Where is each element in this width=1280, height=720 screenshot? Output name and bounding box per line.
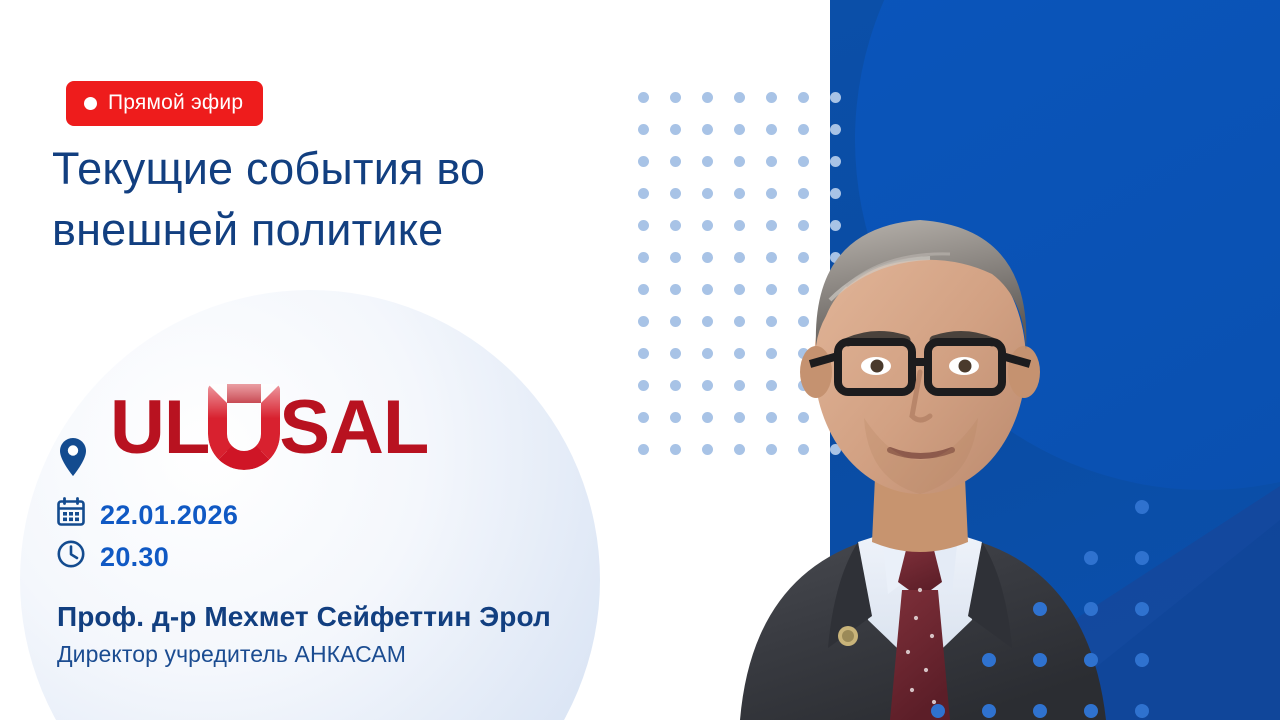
pattern-dot [766,92,777,103]
pattern-dot [830,124,841,135]
logo-text-part1: UL [110,390,209,466]
pattern-dot [798,92,809,103]
pattern-dot [1084,704,1098,718]
speaker-name: Проф. д-р Мехмет Сейфеттин Эрол [57,601,551,633]
logo-u-mark [205,390,283,470]
pattern-dot [766,124,777,135]
content-column: Прямой эфир Текущие события во внешней п… [0,0,620,720]
pattern-dot [1084,551,1098,565]
pattern-dot [982,653,996,667]
live-badge-label: Прямой эфир [108,91,243,115]
location-pin-icon [58,437,88,482]
pattern-dot [638,124,649,135]
pattern-dot [931,704,945,718]
event-time-row: 20.30 [56,539,169,576]
event-time: 20.30 [100,542,169,573]
pattern-dot [1033,653,1047,667]
pattern-dot [1135,704,1149,718]
live-badge[interactable]: Прямой эфир [66,81,263,126]
page-title: Текущие события во внешней политике [52,138,597,260]
pattern-dot [638,92,649,103]
event-date-row: 22.01.2026 [56,497,238,534]
pattern-dot [1135,551,1149,565]
clock-icon [56,539,86,576]
pattern-dot [1033,704,1047,718]
pattern-dot [702,124,713,135]
logo-text-part3: SAL [279,390,428,466]
calendar-icon [56,497,86,534]
event-date: 22.01.2026 [100,500,238,531]
speaker-role: Директор учредитель АНКАСАМ [57,641,406,668]
pattern-dot [1135,602,1149,616]
pattern-dot [1033,602,1047,616]
pattern-dot [670,92,681,103]
pattern-dot [1084,602,1098,616]
pattern-dot [982,704,996,718]
event-banner: Прямой эфир Текущие события во внешней п… [0,0,1280,720]
live-dot-icon [84,97,97,110]
pattern-dot [1135,500,1149,514]
speaker-portrait [620,150,1180,720]
pattern-dot [798,124,809,135]
pattern-dot [702,92,713,103]
pattern-dot [670,124,681,135]
pattern-dot [734,92,745,103]
pattern-dot [1135,653,1149,667]
pattern-dot [1084,653,1098,667]
pattern-dot [734,124,745,135]
ulusal-logo: UL SAL [110,390,428,470]
pattern-dot [830,92,841,103]
